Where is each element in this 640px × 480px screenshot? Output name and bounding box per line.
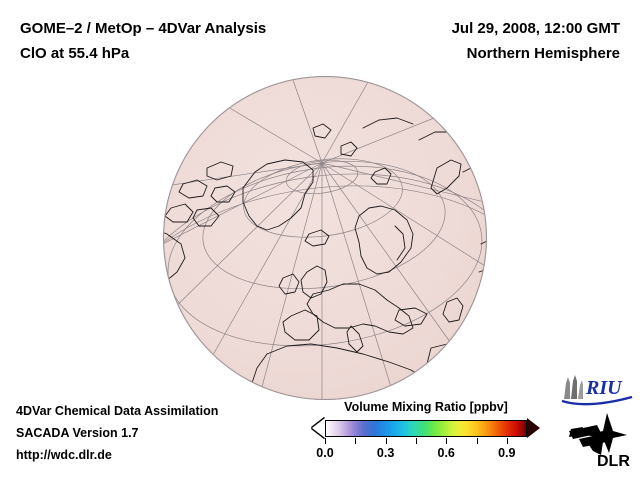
colorbar-tick bbox=[477, 438, 478, 444]
colorbar-gradient bbox=[325, 420, 527, 437]
website-url: http://wdc.dlr.de bbox=[16, 444, 218, 466]
footer-credits-block: 4DVar Chemical Data Assimilation SACADA … bbox=[16, 400, 218, 466]
colorbar-tick bbox=[325, 438, 326, 444]
colorbar-tick-label: 0.9 bbox=[498, 446, 515, 460]
riu-wordmark: RIU bbox=[585, 377, 623, 399]
colorbar-ticks bbox=[325, 438, 527, 445]
colorbar-legend: Volume Mixing Ratio [ppbv] 0.00.30.60.9 bbox=[312, 400, 540, 464]
globe-map-panel bbox=[0, 60, 640, 410]
header-right-block: Jul 29, 2008, 12:00 GMT Northern Hemisph… bbox=[320, 16, 620, 66]
colorbar-bar bbox=[312, 418, 540, 438]
riu-logo: RIU bbox=[558, 373, 636, 407]
graticule-parallels bbox=[163, 147, 487, 400]
riu-tower-icon bbox=[564, 375, 583, 399]
timestamp-label: Jul 29, 2008, 12:00 GMT bbox=[320, 16, 620, 41]
colorbar-tick-label: 0.3 bbox=[377, 446, 394, 460]
header-left-block: GOME–2 / MetOp – 4DVar Analysis ClO at 5… bbox=[20, 16, 350, 66]
globe-sphere bbox=[163, 76, 487, 400]
colorbar-tick bbox=[507, 438, 508, 444]
dlr-bird-icon bbox=[569, 413, 627, 455]
globe-vector-layer bbox=[163, 76, 487, 400]
colorbar-tick bbox=[355, 438, 356, 444]
colorbar-tick-label: 0.6 bbox=[437, 446, 454, 460]
colorbar-tick-labels: 0.00.30.60.9 bbox=[325, 446, 527, 464]
dlr-wordmark: DLR bbox=[597, 453, 630, 469]
colorbar-tick-label: 0.0 bbox=[316, 446, 333, 460]
colorbar-over-arrow-icon bbox=[527, 418, 540, 438]
colorbar-tick bbox=[446, 438, 447, 444]
instrument-title: GOME–2 / MetOp – 4DVar Analysis bbox=[20, 16, 350, 41]
colorbar-tick bbox=[386, 438, 387, 444]
dlr-logo: DLR bbox=[563, 411, 635, 469]
colorbar-under-arrow-icon bbox=[312, 418, 325, 438]
graticule-meridians bbox=[163, 80, 487, 400]
project-line: 4DVar Chemical Data Assimilation bbox=[16, 400, 218, 422]
colorbar-tick bbox=[416, 438, 417, 444]
colorbar-title: Volume Mixing Ratio [ppbv] bbox=[312, 400, 540, 414]
version-line: SACADA Version 1.7 bbox=[16, 422, 218, 444]
